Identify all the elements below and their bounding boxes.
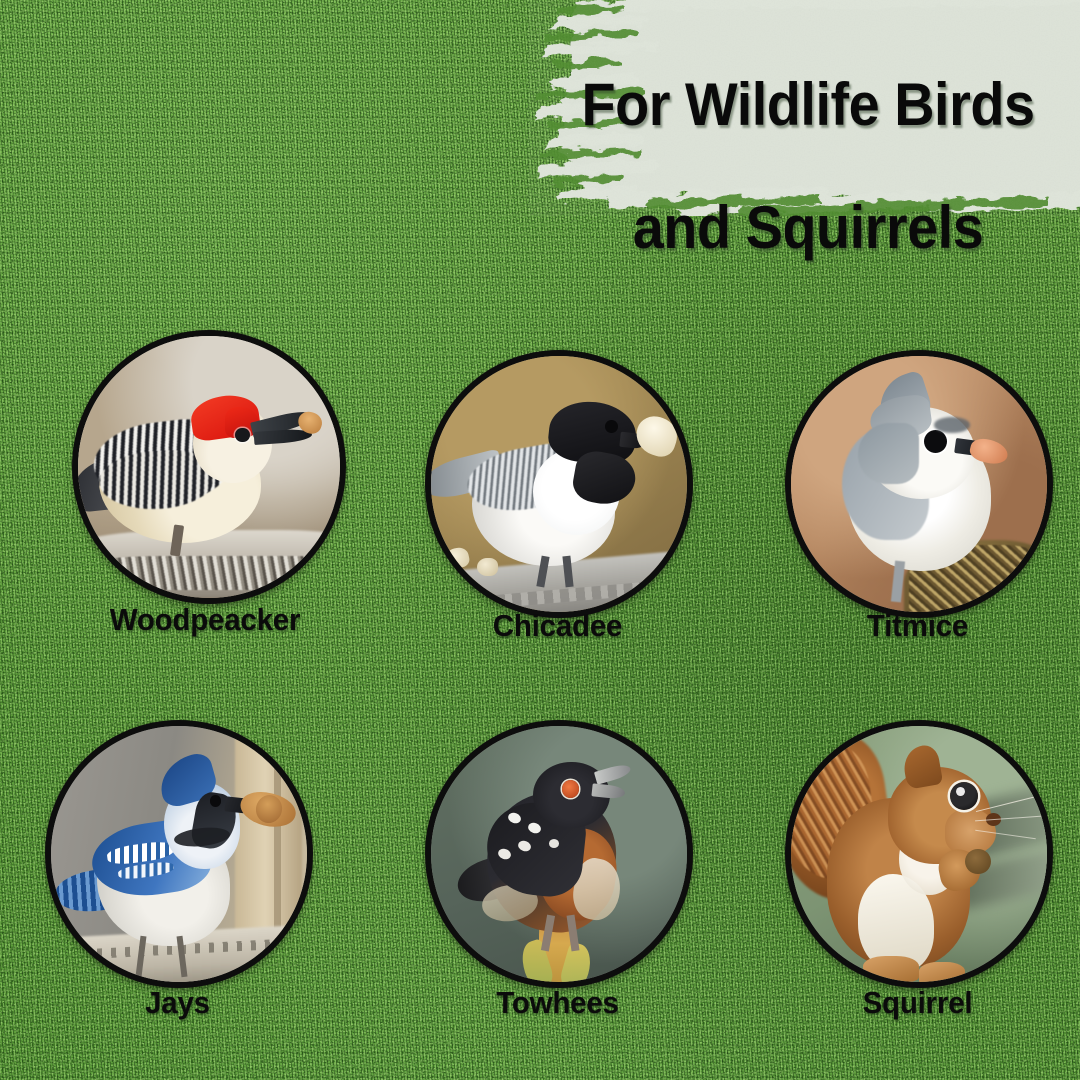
towhees-photo: [425, 720, 693, 988]
jays-scene: [51, 726, 307, 982]
page-title: For Wildlife Birds and Squirrels: [548, 12, 1069, 321]
product-infographic: For Wildlife Birds and Squirrels: [0, 0, 1080, 1080]
headline-banner: For Wildlife Birds and Squirrels: [528, 0, 1080, 216]
titmice-photo: [785, 350, 1053, 618]
jays-photo: [45, 720, 313, 988]
towhees-caption: Towhees: [432, 985, 684, 1021]
gallery-item-chickadee[interactable]: Chicadee: [425, 350, 690, 660]
woodpecker-caption: Woodpeacker: [67, 602, 343, 638]
gallery-item-jays[interactable]: Jays: [45, 720, 310, 1040]
squirrel-scene: [791, 726, 1047, 982]
woodpecker-scene: [78, 336, 340, 598]
titmice-scene: [791, 356, 1047, 612]
gallery-item-squirrel[interactable]: Squirrel: [785, 720, 1050, 1040]
woodpecker-photo: [72, 330, 346, 604]
chickadee-scene: [431, 356, 687, 612]
headline-line-1: For Wildlife Birds: [548, 74, 1069, 136]
gallery-item-woodpecker[interactable]: Woodpeacker: [60, 330, 350, 660]
chickadee-caption: Chicadee: [432, 608, 684, 644]
squirrel-photo: [785, 720, 1053, 988]
towhees-scene: [431, 726, 687, 982]
headline-line-2: and Squirrels: [548, 197, 1069, 259]
squirrel-caption: Squirrel: [792, 985, 1044, 1021]
chickadee-photo: [425, 350, 693, 618]
titmice-caption: Titmice: [792, 608, 1044, 644]
gallery-item-towhees[interactable]: Towhees: [425, 720, 690, 1040]
jays-caption: Jays: [52, 985, 304, 1021]
gallery-item-titmice[interactable]: Titmice: [785, 350, 1050, 660]
